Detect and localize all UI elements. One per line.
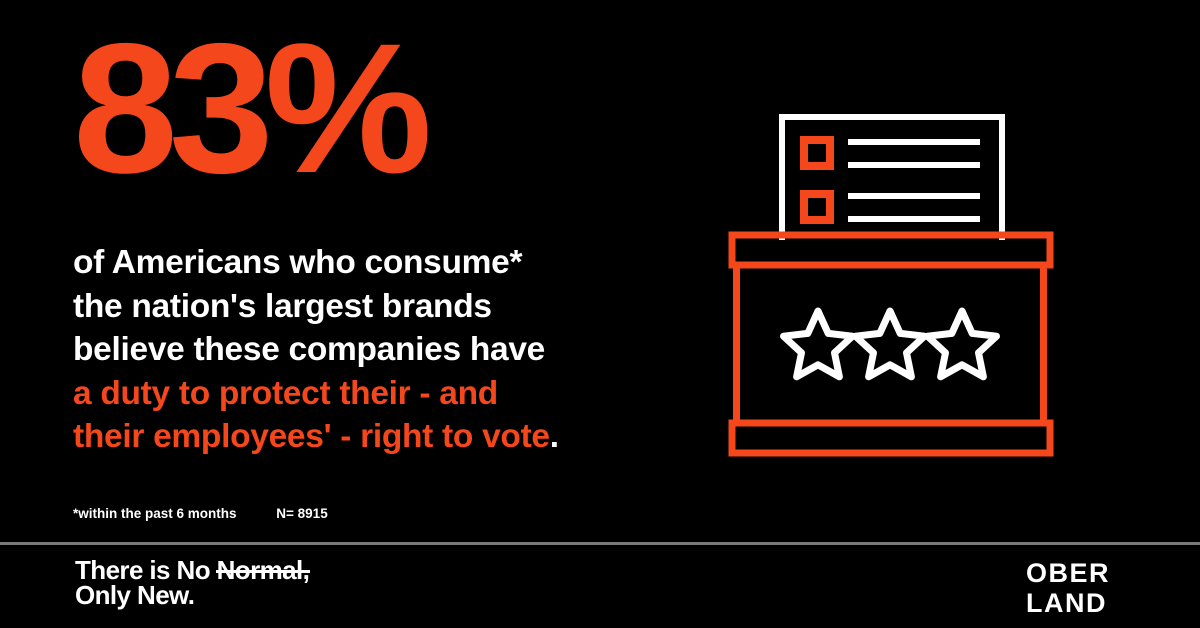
- ballot-paper-icon: [782, 117, 1002, 237]
- brand-line-2: LAND: [1026, 588, 1110, 618]
- statement-line-5: their employees' - right to vote: [73, 418, 550, 455]
- statement-line-1: of Americans who consume*: [73, 241, 573, 285]
- star-icon-2: [856, 311, 925, 377]
- statement-line-3: believe these companies have: [73, 328, 573, 372]
- star-icon-1: [784, 311, 853, 377]
- statement-line-2: the nation's largest brands: [73, 285, 573, 329]
- star-icon-3: [928, 311, 997, 377]
- statement-line-4: a duty to protect their - and: [73, 372, 573, 416]
- infographic-canvas: 83% of Americans who consume* the nation…: [0, 0, 1200, 628]
- stat-percentage: 83%: [73, 17, 423, 202]
- ballot-box-illustration: [700, 95, 1080, 475]
- left-content-column: 83% of Americans who consume* the nation…: [73, 0, 633, 543]
- brand-line-1: OBER: [1026, 558, 1110, 588]
- footnote: *within the past 6 months N= 8915: [73, 506, 328, 521]
- star-icon-group: [784, 311, 997, 377]
- oberland-logo: OBER LAND: [1026, 558, 1110, 618]
- footnote-sample-size: N= 8915: [276, 506, 327, 521]
- ballot-base-bar: [732, 423, 1050, 453]
- footer-bar: There is No Normal, Only New. OBER LAND: [0, 545, 1200, 628]
- footnote-asterisk-note: *within the past 6 months: [73, 506, 237, 521]
- statement-text: of Americans who consume* the nation's l…: [73, 241, 573, 459]
- campaign-tagline: There is No Normal, Only New.: [75, 558, 309, 608]
- statement-period: .: [550, 418, 559, 455]
- tagline-line-2: Only New.: [75, 583, 309, 608]
- tagline-struck-word: Normal,: [217, 558, 310, 583]
- ballot-box-body: [733, 262, 1047, 424]
